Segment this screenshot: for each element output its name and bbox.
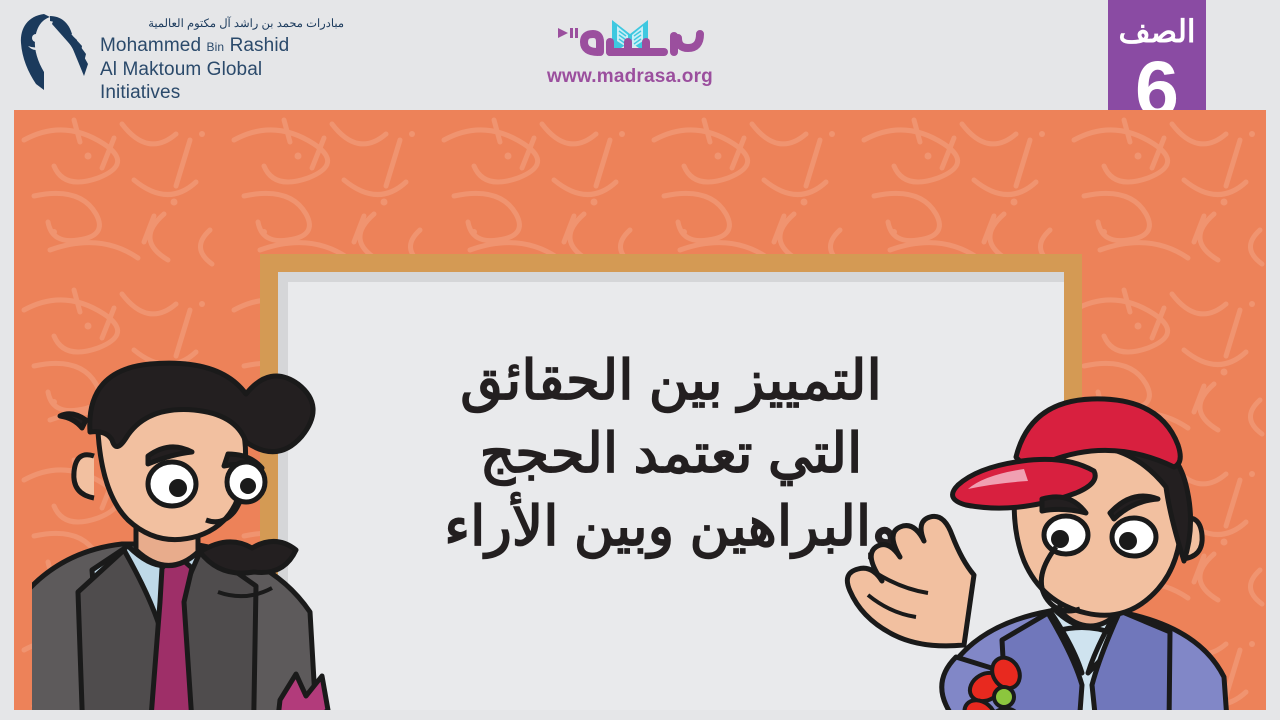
student-character	[804, 395, 1266, 710]
header-bar: مبادرات محمد بن راشد آل مكتوم العالمية M…	[0, 0, 1280, 110]
mbr-english-line-1: Mohammed Bin Rashid	[100, 34, 344, 58]
footer-strip	[0, 710, 1280, 720]
play-pause-icon	[558, 28, 578, 38]
grade-label: الصف	[1118, 16, 1195, 47]
mbr-name-bin: Bin	[207, 40, 225, 54]
madrasa-wordmark	[540, 12, 720, 68]
teacher-character	[32, 360, 372, 710]
slide-left-margin	[0, 110, 14, 720]
mbr-name-rashid: Rashid	[230, 35, 290, 56]
madrasa-logo[interactable]: www.madrasa.org	[540, 12, 720, 92]
mbr-portrait-icon	[14, 10, 88, 92]
mbr-global-initiatives-logo: مبادرات محمد بن راشد آل مكتوم العالمية M…	[14, 10, 344, 98]
mbr-english-line-2: Al Maktoum Global Initiatives	[100, 58, 344, 106]
mbr-arabic-line: مبادرات محمد بن راشد آل مكتوم العالمية	[100, 18, 344, 32]
madrasa-url-text[interactable]: www.madrasa.org	[540, 66, 720, 88]
mbr-name-mohammed: Mohammed	[100, 35, 201, 56]
lesson-slide-body: التمييز بين الحقائق التي تعتمد الحجج وال…	[14, 110, 1266, 710]
slide-right-margin	[1266, 110, 1280, 720]
madrasa-logo-graphic	[540, 12, 720, 68]
slide-stage: مبادرات محمد بن راشد آل مكتوم العالمية M…	[0, 0, 1280, 720]
